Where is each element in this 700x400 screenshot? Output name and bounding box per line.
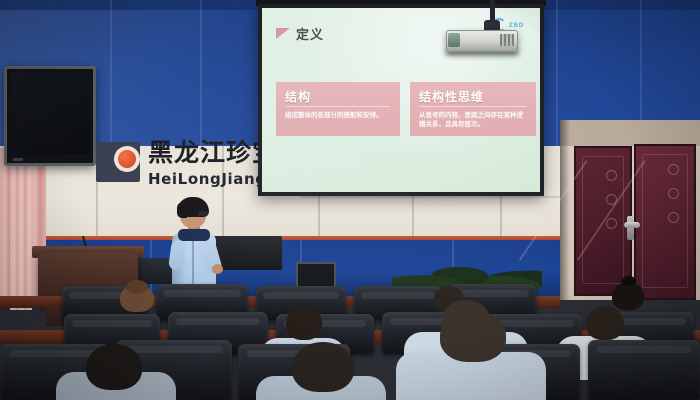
- door-circle: [606, 170, 617, 181]
- attendee-front-right-head: [440, 310, 506, 362]
- slide-box-rule: [419, 106, 526, 107]
- projector-vent: [500, 34, 514, 46]
- attendee-front-left-head: [86, 344, 142, 390]
- wall-monitor: [4, 66, 96, 166]
- presenter-hand: [212, 264, 223, 274]
- door-circle: [668, 212, 679, 223]
- seat-highlight: [163, 290, 240, 297]
- seat-highlight: [597, 346, 691, 353]
- seat-highlight: [125, 346, 222, 353]
- slide-box-rule: [285, 106, 390, 107]
- seat-highlight: [72, 320, 153, 327]
- slide-box-body: 从思考的内容、思路之间存在某种逻辑关系，且具有层次。: [419, 111, 528, 129]
- door-handle-plate: [627, 216, 634, 240]
- presenter-hair-side: [177, 202, 187, 218]
- attendee-blue-shirt-head: [286, 306, 322, 340]
- slide-title-row: 定义: [276, 24, 324, 43]
- slide-box-heading: 结构性思维: [419, 88, 484, 105]
- triangle-icon: [276, 28, 290, 39]
- seat-highlight: [455, 290, 529, 297]
- door-right[interactable]: [634, 144, 696, 300]
- presenter-glasses: [198, 211, 208, 216]
- projector-lens: [448, 33, 460, 47]
- seat-highlight: [361, 292, 435, 299]
- seat-highlight: [494, 320, 575, 327]
- door-header: [560, 120, 700, 146]
- attendee-bun: [126, 280, 148, 294]
- watermark-text: ZBD: [509, 22, 524, 29]
- logo-dot: [118, 150, 136, 168]
- attendee-front-center-head: [292, 342, 354, 392]
- monitor-screen: [10, 72, 90, 154]
- wall-seam: [556, 0, 558, 150]
- slide-box-structural-thinking: 结构性思维 从思考的内容、思路之间存在某种逻辑关系，且具有层次。: [410, 82, 536, 136]
- slide-box-heading: 结构: [285, 88, 311, 105]
- wall-seam: [200, 0, 202, 150]
- presentation-room-photo: 黑龙江珍宝岛 HeiLongJiang ZBD 定义 ZBD 结构 组成整体的各…: [0, 0, 700, 400]
- attendee-ponytail: [612, 282, 644, 310]
- slide-box-structure: 结构 组成整体的各部分的搭配和安排。: [276, 82, 400, 136]
- alcove-shadow: [560, 120, 570, 300]
- wall-seam: [640, 0, 642, 120]
- seat-highlight: [263, 292, 339, 299]
- slide-title: 定义: [296, 24, 324, 43]
- door-handle[interactable]: [624, 222, 640, 228]
- seat: [588, 340, 700, 400]
- seat-highlight: [9, 350, 101, 357]
- attendee-right-head: [586, 306, 624, 340]
- seat-highlight: [176, 318, 260, 325]
- wall-seam: [110, 0, 112, 150]
- monitor-led: [13, 158, 23, 161]
- company-logo: [96, 142, 140, 182]
- door-circle: [668, 164, 679, 175]
- door-circle: [668, 188, 679, 199]
- attendee-hair-tie: [622, 276, 636, 286]
- door-circle: [606, 218, 617, 229]
- presenter-collar: [178, 229, 210, 241]
- slide-box-body: 组成整体的各部分的搭配和安排。: [285, 111, 392, 120]
- wall-seam: [300, 196, 560, 198]
- door-panel: [642, 154, 688, 288]
